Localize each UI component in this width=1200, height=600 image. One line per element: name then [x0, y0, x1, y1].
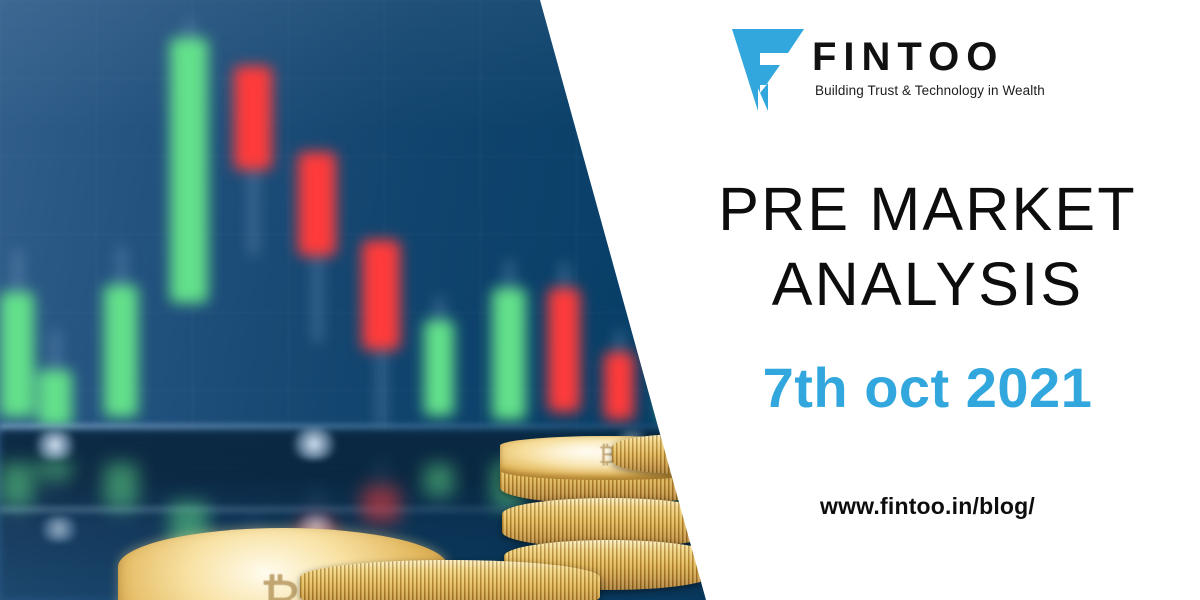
- fintoo-f-triangle-mark: [730, 27, 806, 111]
- candle-body: [548, 288, 580, 412]
- gold-coin-stack: ₿ ₿: [0, 415, 760, 600]
- page-title: PRE MARKET ANALYSIS: [655, 172, 1200, 322]
- candle-body: [234, 66, 272, 170]
- candle-wick: [251, 160, 256, 256]
- candle-body: [298, 152, 336, 256]
- page-title-line-1: PRE MARKET: [718, 175, 1137, 243]
- candle-body: [492, 288, 526, 420]
- candle-wick: [315, 244, 320, 343]
- candle-body: [0, 292, 34, 417]
- candle-body: [604, 352, 634, 420]
- pre-market-analysis-banner: ₿ ₿ FINTOO Building Trust & Tech: [0, 0, 1200, 600]
- candle-body: [424, 320, 454, 416]
- publication-date: 7th oct 2021: [655, 360, 1200, 416]
- website-url[interactable]: www.fintoo.in/blog/: [655, 493, 1200, 520]
- fintoo-logo[interactable]: FINTOO Building Trust & Technology in We…: [730, 27, 1045, 111]
- candle-body: [362, 240, 400, 350]
- coin-edge: [300, 560, 600, 600]
- fintoo-tagline: Building Trust & Technology in Wealth: [815, 83, 1045, 98]
- candle-body: [104, 285, 138, 417]
- page-title-line-2: ANALYSIS: [655, 247, 1200, 322]
- candle-body: [170, 38, 208, 303]
- fintoo-wordmark: FINTOO: [812, 37, 1045, 77]
